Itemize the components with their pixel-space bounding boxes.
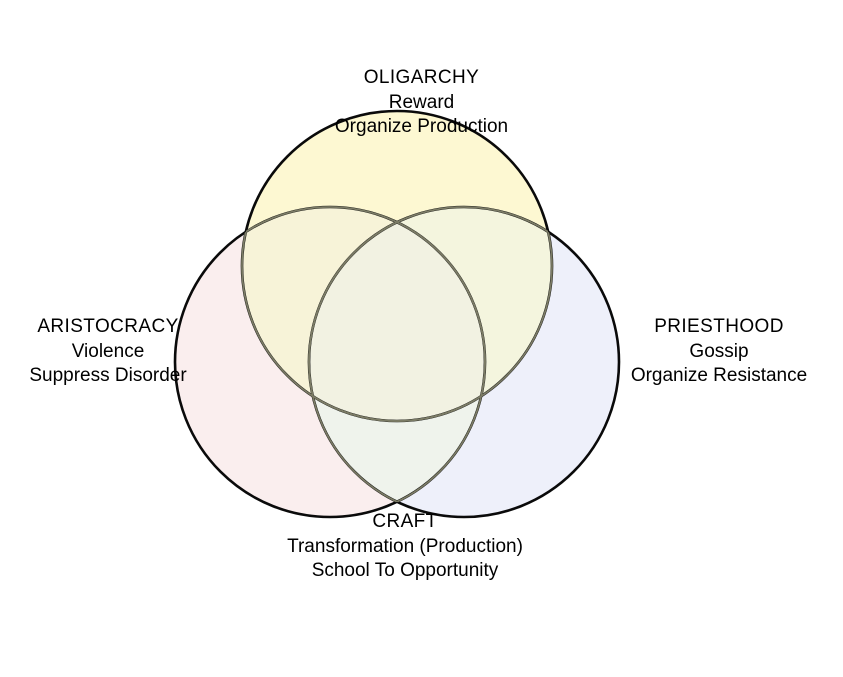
label-aristocracy-title: ARISTOCRACY xyxy=(8,315,208,340)
label-oligarchy-title: OLIGARCHY xyxy=(0,66,843,91)
label-craft-line2: Transformation (Production) xyxy=(215,535,595,560)
label-aristocracy-line3: Suppress Disorder xyxy=(8,364,208,389)
venn-diagram-figure: OLIGARCHY Reward Organize Production ARI… xyxy=(0,0,843,677)
label-craft: CRAFT Transformation (Production) School… xyxy=(215,510,595,584)
label-aristocracy-line2: Violence xyxy=(8,340,208,365)
label-priesthood-line2: Gossip xyxy=(600,340,838,365)
label-craft-title: CRAFT xyxy=(215,510,595,535)
label-aristocracy: ARISTOCRACY Violence Suppress Disorder xyxy=(8,315,208,389)
label-priesthood-line3: Organize Resistance xyxy=(600,364,838,389)
venn-fills xyxy=(175,111,619,517)
label-oligarchy-line3: Organize Production xyxy=(0,115,843,140)
label-priesthood-title: PRIESTHOOD xyxy=(600,315,838,340)
label-oligarchy: OLIGARCHY Reward Organize Production xyxy=(0,66,843,140)
label-priesthood: PRIESTHOOD Gossip Organize Resistance xyxy=(600,315,838,389)
label-oligarchy-line2: Reward xyxy=(0,91,843,116)
label-craft-line3: School To Opportunity xyxy=(215,559,595,584)
